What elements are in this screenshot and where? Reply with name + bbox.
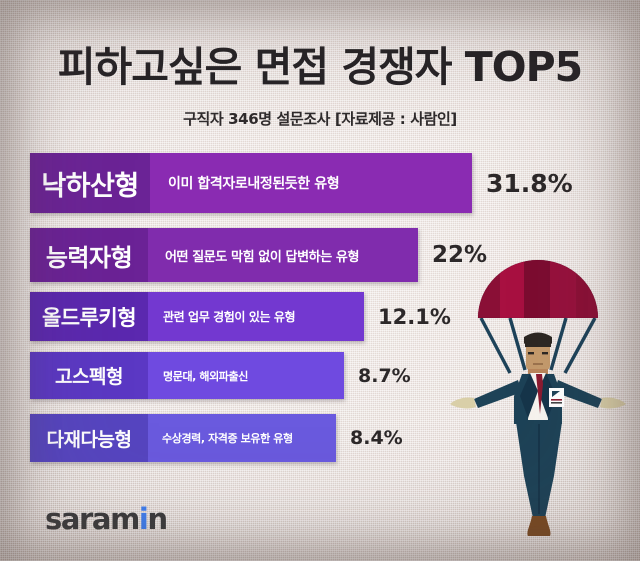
bar-category-label: 다재다능형 xyxy=(30,414,148,462)
bar-row: 다재다능형수상경력, 자격증 보유한 유형 xyxy=(30,414,336,462)
bar-category-label: 낙하산형 xyxy=(30,153,150,213)
bar-category-label: 능력자형 xyxy=(30,228,148,282)
bar-value-label: 8.4% xyxy=(350,414,403,462)
bar-row: 고스펙형명문대, 해외파출신 xyxy=(30,352,344,399)
bar-row: 낙하산형이미 합격자로내정된듯한 유형 xyxy=(30,153,472,213)
logo-text-tail: n xyxy=(147,502,166,536)
bar-row: 능력자형어떤 질문도 막힘 없이 답변하는 유형 xyxy=(30,228,418,282)
businessman-with-parachute-illustration xyxy=(444,228,640,540)
page-subtitle: 구직자 346명 설문조사 [자료제공 : 사람인] xyxy=(0,108,640,129)
figure-suit xyxy=(514,373,564,424)
bar-value-label: 8.7% xyxy=(358,352,411,399)
bar-value-label: 12.1% xyxy=(378,292,451,341)
figure-head xyxy=(524,333,552,375)
bar-description: 수상경력, 자격증 보유한 유형 xyxy=(148,414,336,462)
parachute-canopy xyxy=(474,256,604,320)
page-title: 피하고싶은 면접 경쟁자 TOP5 xyxy=(0,33,640,93)
infographic-canvas: 피하고싶은 면접 경쟁자 TOP5 구직자 346명 설문조사 [자료제공 : … xyxy=(0,0,640,561)
logo-accent-letter: i xyxy=(139,502,148,536)
figure-legs xyxy=(516,422,562,536)
logo-text-main: saram xyxy=(45,502,139,536)
bar-value-label: 31.8% xyxy=(486,153,573,213)
bar-description: 이미 합격자로내정된듯한 유형 xyxy=(150,153,472,213)
saramin-logo: saramin xyxy=(45,505,167,534)
bar-description: 관련 업무 경험이 있는 유형 xyxy=(148,292,364,341)
bar-description: 어떤 질문도 막힘 없이 답변하는 유형 xyxy=(148,228,418,282)
bar-category-label: 고스펙형 xyxy=(30,352,148,399)
bar-row: 올드루키형관련 업무 경험이 있는 유형 xyxy=(30,292,364,341)
bar-category-label: 올드루키형 xyxy=(30,292,148,341)
bar-description: 명문대, 해외파출신 xyxy=(148,352,344,399)
